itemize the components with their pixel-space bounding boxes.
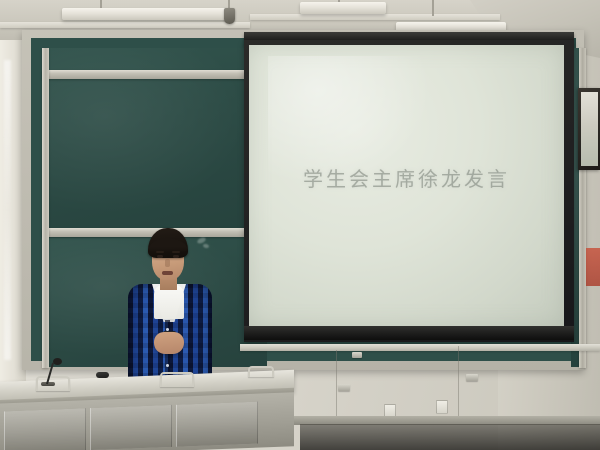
lectern-body <box>0 392 294 450</box>
hands <box>154 332 184 354</box>
chalkboard-rail-top <box>42 70 268 79</box>
ceiling-light-fixture <box>300 2 386 14</box>
classroom-photo: 学生会主席徐龙发言 <box>0 0 600 450</box>
light-suspension-rod <box>432 0 434 16</box>
speaker-person <box>118 228 218 388</box>
lectern-panel[interactable] <box>176 402 258 447</box>
wall-bracket <box>466 374 478 381</box>
ceiling-light-fixture <box>62 8 234 20</box>
microphone-head <box>53 358 62 365</box>
wall-seam <box>336 350 337 422</box>
chalkboard-rail-left <box>42 48 49 368</box>
ceiling-beam <box>0 22 250 28</box>
left-wall-highlight <box>4 60 11 360</box>
eye-left <box>157 255 163 258</box>
eyebrow-right <box>172 251 180 253</box>
eyebrow-left <box>156 251 164 253</box>
wall-socket[interactable] <box>436 400 448 414</box>
floor-shadow <box>300 424 600 450</box>
lectern-handle[interactable] <box>248 366 274 377</box>
projection-screen-surface: 学生会主席徐龙发言 <box>249 45 564 327</box>
lectern-handle[interactable] <box>160 372 194 387</box>
nose <box>165 259 170 267</box>
slide-text: 学生会主席徐龙发言 <box>249 163 564 192</box>
wall-bracket <box>338 384 350 391</box>
eye-right <box>173 255 179 258</box>
wall-seam <box>458 346 459 422</box>
wall-bracket <box>352 352 362 358</box>
projection-screen-weight-bar <box>244 326 574 340</box>
projection-screen-border: 学生会主席徐龙发言 <box>244 40 574 342</box>
ceiling-beam <box>250 14 500 20</box>
wall-ledge <box>240 344 600 351</box>
framed-picture <box>578 88 600 170</box>
mouth <box>162 271 173 275</box>
ceiling-speaker <box>224 8 235 24</box>
hair-fringe <box>149 239 187 252</box>
lectern-panel[interactable] <box>4 408 86 450</box>
lectern-panel[interactable] <box>90 405 172 450</box>
wall-poster <box>586 248 600 286</box>
desk-object <box>96 372 109 378</box>
framed-picture-content <box>581 92 598 166</box>
